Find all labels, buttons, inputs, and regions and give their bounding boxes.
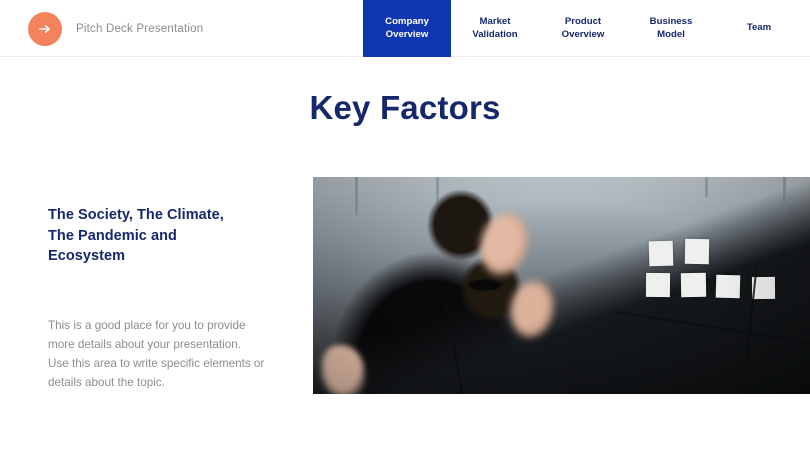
- tab-label-line1: Team: [747, 22, 771, 35]
- top-navigation-bar: Pitch Deck Presentation Company Overview…: [0, 0, 810, 57]
- tab-company-overview[interactable]: Company Overview: [363, 0, 451, 57]
- tab-team[interactable]: Team: [715, 0, 803, 57]
- page-title: Key Factors: [0, 89, 810, 127]
- tab-market-validation[interactable]: Market Validation: [451, 0, 539, 57]
- body-line3: Use this area to write specific elements…: [48, 357, 264, 370]
- body-paragraph: This is a good place for you to provide …: [48, 316, 293, 392]
- section-heading: The Society, The Climate, The Pandemic a…: [48, 205, 293, 267]
- tab-label-line1: Market: [480, 16, 511, 29]
- team-at-monitor-photo: [313, 177, 810, 394]
- section-heading-line2: The Pandemic and: [48, 228, 177, 244]
- tab-label-line2: Validation: [472, 29, 517, 42]
- tab-label-line1: Business: [650, 16, 693, 29]
- tab-label-line2: Model: [657, 29, 685, 42]
- tab-business-model[interactable]: Business Model: [627, 0, 715, 57]
- slide-section-tabs: Company Overview Market Validation Produ…: [363, 0, 803, 57]
- section-heading-line1: The Society, The Climate,: [48, 207, 224, 223]
- tab-label-line1: Product: [565, 16, 601, 29]
- body-line2: more details about your presentation.: [48, 338, 241, 351]
- section-heading-line3: Ecosystem: [48, 248, 125, 264]
- brand-title: Pitch Deck Presentation: [76, 23, 203, 35]
- tab-product-overview[interactable]: Product Overview: [539, 0, 627, 57]
- left-content-column: The Society, The Climate, The Pandemic a…: [48, 205, 293, 392]
- tab-label-line2: Overview: [386, 29, 429, 42]
- presentation-slide: Pitch Deck Presentation Company Overview…: [0, 0, 810, 456]
- arrow-right-circle-icon: [28, 12, 62, 46]
- body-line1: This is a good place for you to provide: [48, 319, 246, 332]
- photo-vignette: [313, 177, 810, 394]
- tab-label-line1: Company: [385, 16, 429, 29]
- body-line4: details about the topic.: [48, 376, 165, 389]
- tab-label-line2: Overview: [562, 29, 605, 42]
- brand[interactable]: Pitch Deck Presentation: [28, 0, 203, 57]
